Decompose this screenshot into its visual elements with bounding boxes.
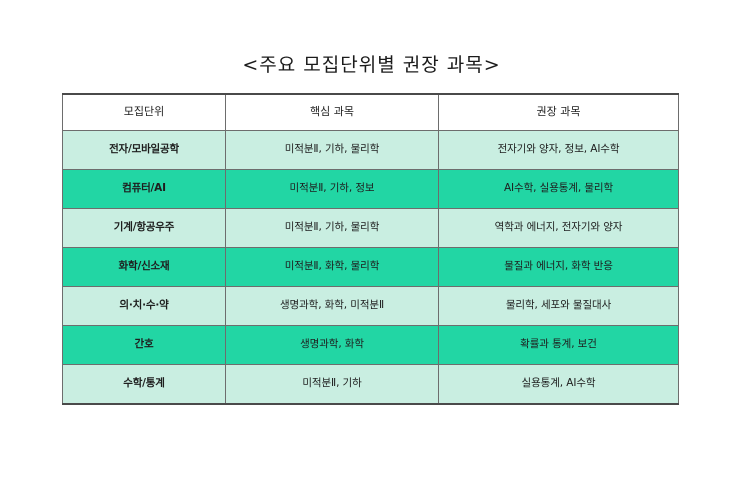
cell-core-subjects: 생명과학, 화학, 미적분Ⅱ (226, 287, 439, 326)
cell-unit: 간호 (63, 326, 226, 365)
column-header-core: 핵심 과목 (226, 94, 439, 131)
table-row: 간호생명과학, 화학확률과 통계, 보건 (63, 326, 679, 365)
cell-core-subjects: 미적분Ⅱ, 기하, 물리학 (226, 209, 439, 248)
column-header-unit: 모집단위 (63, 94, 226, 131)
cell-recommended-subjects: 실용통계, AI수학 (439, 365, 679, 404)
table-body: 전자/모바일공학미적분Ⅱ, 기하, 물리학전자기와 양자, 정보, AI수학컴퓨… (63, 131, 679, 404)
cell-unit: 화학/신소재 (63, 248, 226, 287)
cell-recommended-subjects: 전자기와 양자, 정보, AI수학 (439, 131, 679, 170)
cell-recommended-subjects: 물질과 에너지, 화학 반응 (439, 248, 679, 287)
table-row: 컴퓨터/AI미적분Ⅱ, 기하, 정보AI수학, 실용통계, 물리학 (63, 170, 679, 209)
cell-unit: 수학/통계 (63, 365, 226, 404)
cell-core-subjects: 생명과학, 화학 (226, 326, 439, 365)
cell-core-subjects: 미적분Ⅱ, 기하 (226, 365, 439, 404)
table-row: 의·치·수·약생명과학, 화학, 미적분Ⅱ물리학, 세포와 물질대사 (63, 287, 679, 326)
cell-unit: 전자/모바일공학 (63, 131, 226, 170)
document-page: <주요 모집단위별 권장 과목> 모집단위 핵심 과목 권장 과목 전자/모바일… (0, 0, 743, 482)
table-header: 모집단위 핵심 과목 권장 과목 (63, 94, 679, 131)
cell-recommended-subjects: 확률과 통계, 보건 (439, 326, 679, 365)
table-header-row: 모집단위 핵심 과목 권장 과목 (63, 94, 679, 131)
recommended-courses-table: 모집단위 핵심 과목 권장 과목 전자/모바일공학미적분Ⅱ, 기하, 물리학전자… (62, 93, 679, 405)
table-row: 전자/모바일공학미적분Ⅱ, 기하, 물리학전자기와 양자, 정보, AI수학 (63, 131, 679, 170)
page-title: <주요 모집단위별 권장 과목> (0, 50, 743, 77)
column-header-recommended: 권장 과목 (439, 94, 679, 131)
cell-core-subjects: 미적분Ⅱ, 화학, 물리학 (226, 248, 439, 287)
table-row: 화학/신소재미적분Ⅱ, 화학, 물리학물질과 에너지, 화학 반응 (63, 248, 679, 287)
cell-recommended-subjects: 물리학, 세포와 물질대사 (439, 287, 679, 326)
table-row: 수학/통계미적분Ⅱ, 기하실용통계, AI수학 (63, 365, 679, 404)
cell-recommended-subjects: AI수학, 실용통계, 물리학 (439, 170, 679, 209)
cell-unit: 의·치·수·약 (63, 287, 226, 326)
table-row: 기계/항공우주미적분Ⅱ, 기하, 물리학역학과 에너지, 전자기와 양자 (63, 209, 679, 248)
cell-unit: 기계/항공우주 (63, 209, 226, 248)
cell-recommended-subjects: 역학과 에너지, 전자기와 양자 (439, 209, 679, 248)
cell-core-subjects: 미적분Ⅱ, 기하, 정보 (226, 170, 439, 209)
cell-core-subjects: 미적분Ⅱ, 기하, 물리학 (226, 131, 439, 170)
cell-unit: 컴퓨터/AI (63, 170, 226, 209)
recommended-courses-table-wrapper: 모집단위 핵심 과목 권장 과목 전자/모바일공학미적분Ⅱ, 기하, 물리학전자… (62, 93, 678, 405)
